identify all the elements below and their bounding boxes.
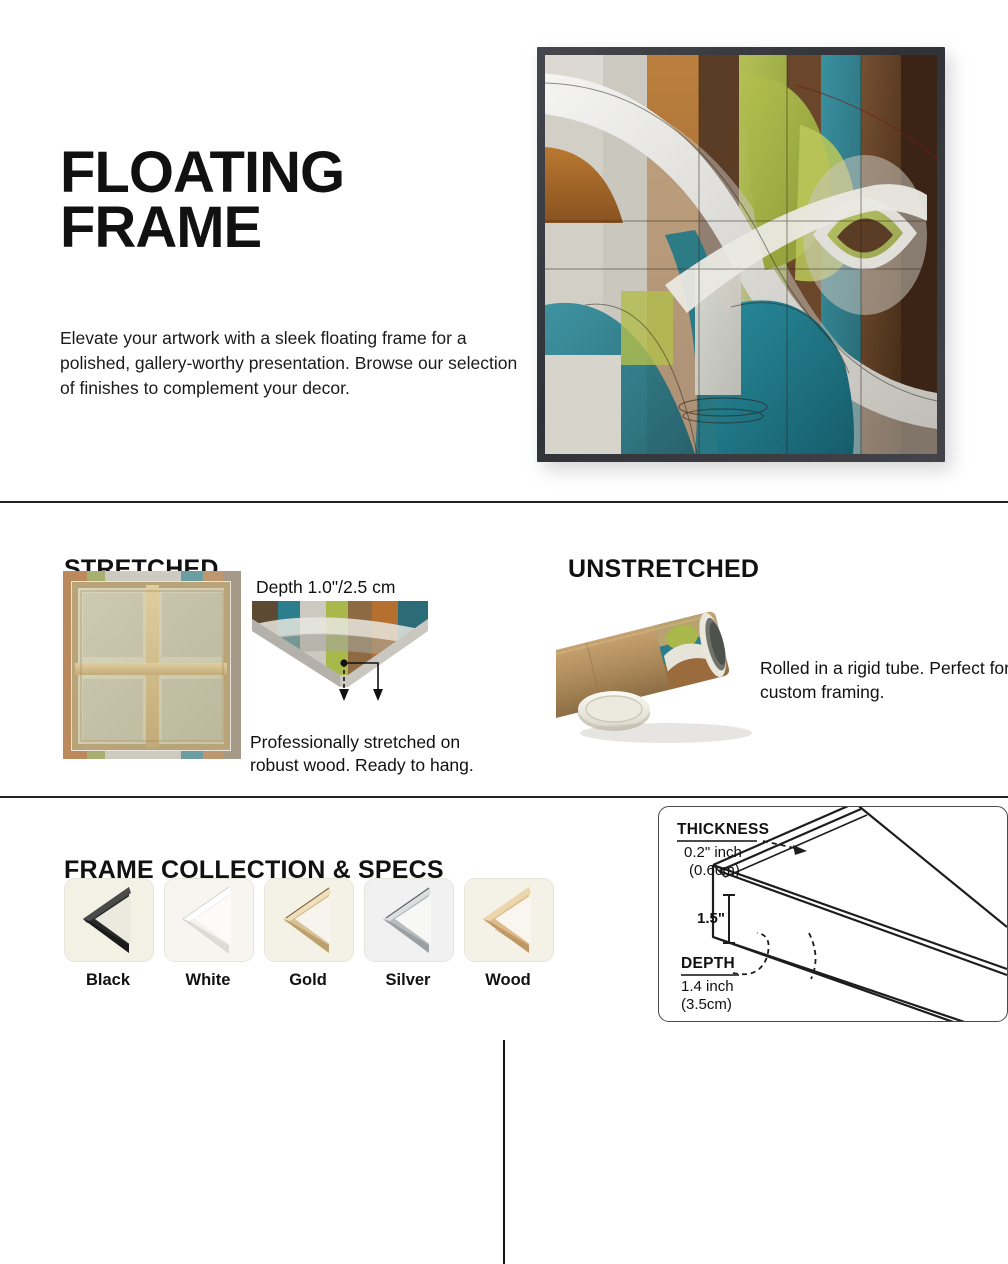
frame-option-label: Black — [64, 971, 152, 990]
unstretched-description: Rolled in a rigid tube. Perfect for cust… — [760, 656, 1008, 704]
frame-option-label: Silver — [364, 971, 452, 990]
hero-section: FLOATING FRAME Elevate your artwork with… — [0, 0, 1008, 502]
shipping-tube-photo — [556, 581, 766, 749]
floating-frame-border — [537, 47, 945, 462]
depth-label: Depth 1.0"/2.5 cm — [256, 577, 395, 598]
thickness-value-inch: 0.2" inch — [684, 844, 742, 861]
frame-swatch-tile[interactable] — [264, 878, 354, 962]
column-divider — [503, 1040, 505, 1264]
frame-collection-section: FRAME COLLECTION & SPECS Black — [0, 798, 1008, 1024]
frame-swatch-row: Black White — [64, 878, 584, 1008]
stretched-description: Professionally stretched on robust wood.… — [250, 731, 498, 778]
frame-swatch-tile[interactable] — [364, 878, 454, 962]
depth-heading: DEPTH — [681, 955, 735, 973]
depth-value-cm: (3.5cm) — [681, 996, 732, 1013]
frame-option-label: White — [164, 971, 252, 990]
page-title: FLOATING FRAME — [60, 145, 344, 255]
frame-option-black[interactable]: Black — [64, 878, 152, 1008]
frame-option-label: Wood — [464, 971, 552, 990]
frame-swatch-tile[interactable] — [164, 878, 254, 962]
frame-height-value: 1.5" — [697, 910, 725, 927]
thickness-value-cm: (0.6cm) — [689, 862, 740, 879]
artwork-inner — [545, 55, 937, 454]
stretched-canvas-photo — [63, 571, 241, 759]
unstretched-title: UNSTRETCHED — [568, 555, 759, 584]
frame-option-silver[interactable]: Silver — [364, 878, 452, 1008]
frame-option-wood[interactable]: Wood — [464, 878, 552, 1008]
depth-rule — [681, 974, 739, 976]
infographic-page: FLOATING FRAME Elevate your artwork with… — [0, 0, 1008, 1024]
frame-swatch-tile[interactable] — [64, 878, 154, 962]
framed-artwork — [537, 47, 945, 462]
frame-spec-diagram: THICKNESS 0.2" inch (0.6cm) 1.5" DEPTH 1… — [658, 806, 1008, 1022]
thickness-heading: THICKNESS — [677, 821, 769, 839]
frame-option-label: Gold — [264, 971, 352, 990]
thickness-rule — [677, 840, 757, 842]
canvas-options-section: STRETCHED — [0, 503, 1008, 796]
abstract-artwork-image — [545, 55, 937, 454]
hero-description: Elevate your artwork with a sleek floati… — [60, 326, 530, 402]
frame-option-gold[interactable]: Gold — [264, 878, 352, 1008]
depth-diagram — [252, 601, 428, 705]
frame-swatch-tile[interactable] — [464, 878, 554, 962]
depth-value-inch: 1.4 inch — [681, 978, 734, 995]
frame-option-white[interactable]: White — [164, 878, 252, 1008]
